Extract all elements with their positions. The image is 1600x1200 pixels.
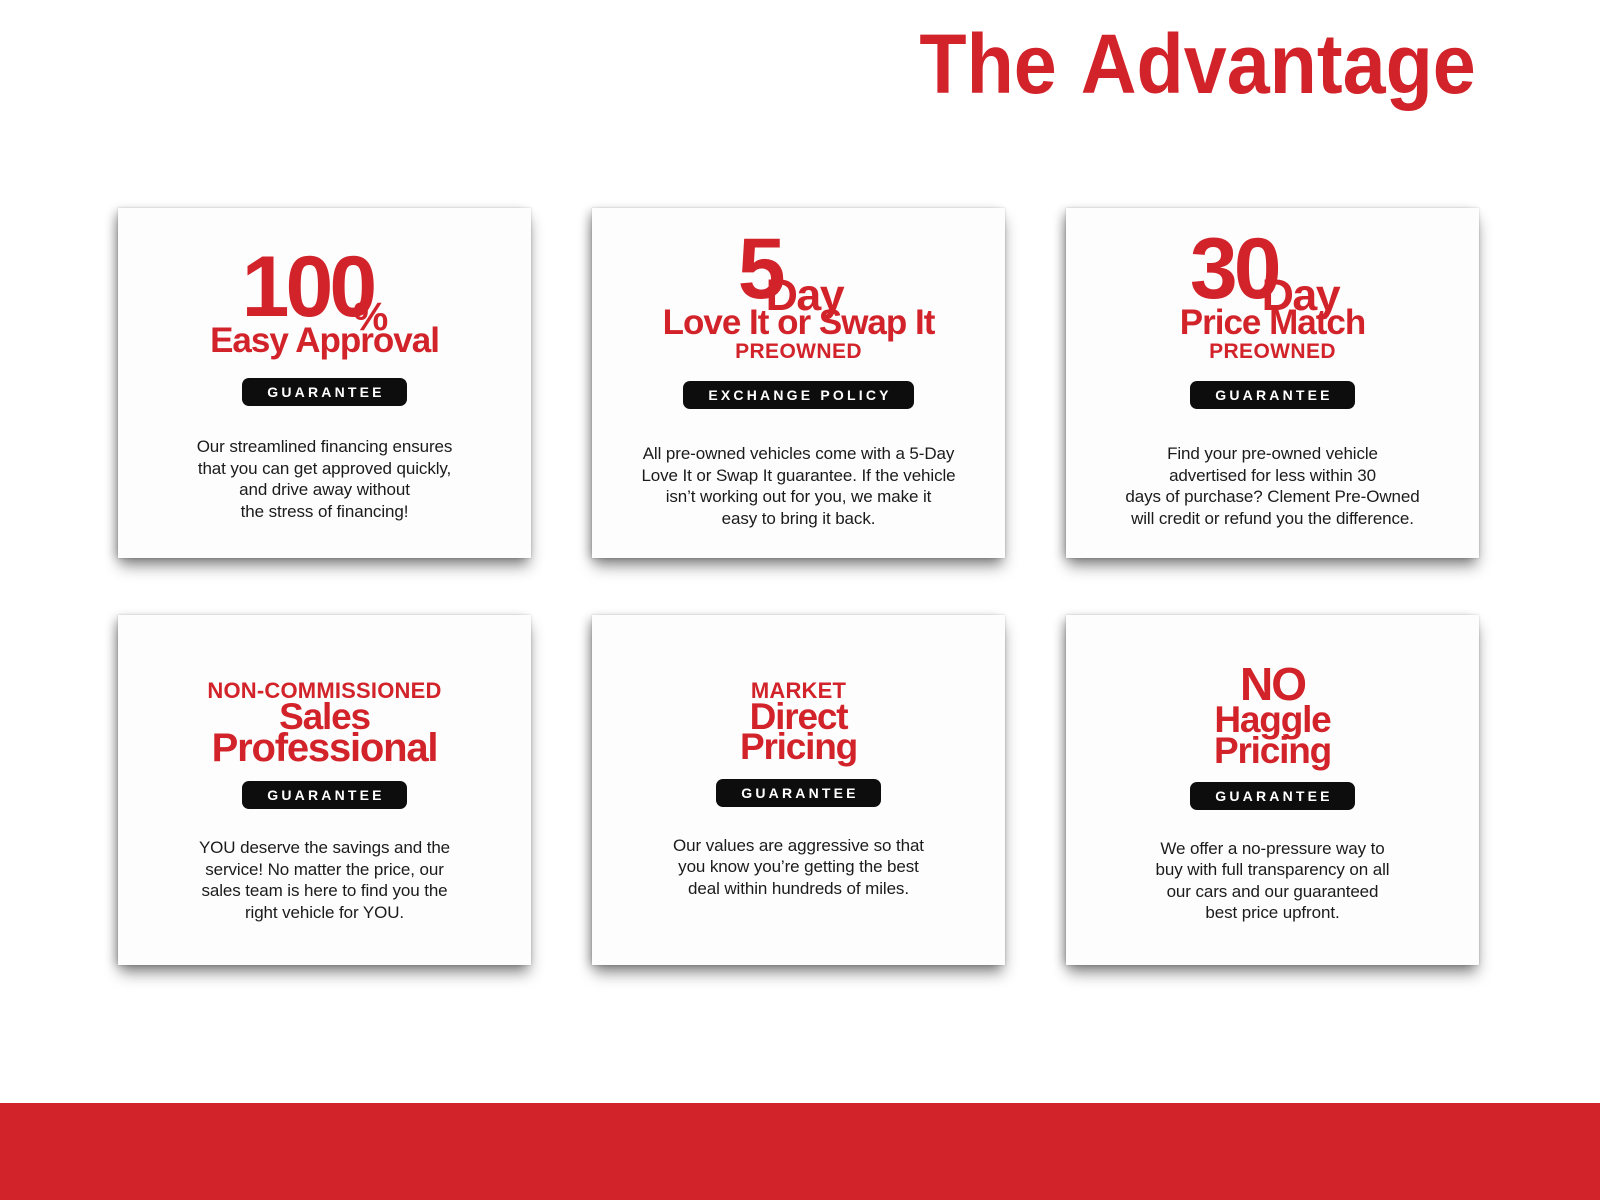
headline-sub: PREOWNED bbox=[735, 341, 862, 363]
card-headline: 100% Easy Approval bbox=[130, 208, 519, 358]
card-body-text: We offer a no-pressure way to buy with f… bbox=[1156, 838, 1390, 924]
advantage-card-grid: 100% Easy Approval GUARANTEE Our streaml… bbox=[118, 208, 1480, 965]
footer-accent-bar bbox=[0, 1103, 1600, 1200]
advantage-card-easy-approval: 100% Easy Approval GUARANTEE Our streaml… bbox=[118, 208, 531, 558]
headline-word-2: Professional bbox=[212, 732, 438, 765]
card-body-text: All pre-owned vehicles come with a 5-Day… bbox=[641, 443, 955, 529]
card-body-text: Find your pre-owned vehicle advertised f… bbox=[1125, 443, 1419, 529]
headline-word-2: Pricing bbox=[1214, 736, 1331, 766]
headline-huge-number: 5Day bbox=[738, 230, 859, 310]
guarantee-badge: GUARANTEE bbox=[1190, 782, 1354, 810]
page-title: TheAdvantage bbox=[920, 22, 1476, 106]
huge-number-suffix: % bbox=[353, 299, 387, 336]
exchange-policy-badge: EXCHANGE POLICY bbox=[683, 381, 913, 409]
card-body-text: Our streamlined financing ensures that y… bbox=[197, 436, 453, 522]
guarantee-badge: GUARANTEE bbox=[1190, 381, 1354, 409]
guarantee-badge: GUARANTEE bbox=[716, 779, 880, 807]
huge-number-suffix: Day bbox=[1262, 275, 1340, 317]
page-title-the: The bbox=[920, 17, 1057, 111]
guarantee-badge: GUARANTEE bbox=[242, 781, 406, 809]
card-body-text: YOU deserve the savings and the service!… bbox=[199, 837, 450, 923]
guarantee-badge: GUARANTEE bbox=[242, 378, 406, 406]
headline-sub: PREOWNED bbox=[1209, 341, 1336, 363]
huge-number-suffix: Day bbox=[766, 275, 844, 317]
advantage-card-love-it-or-swap-it: 5Day Love It or Swap It PREOWNED EXCHANG… bbox=[592, 208, 1005, 558]
page-title-advantage: Advantage bbox=[1081, 17, 1476, 111]
headline-word-2: Pricing bbox=[740, 732, 857, 762]
headline-huge-number: 100% bbox=[242, 248, 408, 328]
card-headline: 5Day Love It or Swap It PREOWNED bbox=[604, 208, 993, 363]
card-body-text: Our values are aggressive so that you kn… bbox=[673, 835, 924, 900]
advantage-card-market-direct-pricing: MARKET Direct Pricing GUARANTEE Our valu… bbox=[592, 615, 1005, 965]
headline-huge-number: 30Day bbox=[1190, 230, 1355, 310]
advantage-card-non-commissioned-sales: NON-COMMISSIONED Sales Professional GUAR… bbox=[118, 615, 531, 965]
card-headline: NON-COMMISSIONED Sales Professional bbox=[130, 615, 519, 765]
card-headline: 30Day Price Match PREOWNED bbox=[1078, 208, 1467, 363]
card-headline: MARKET Direct Pricing bbox=[604, 615, 993, 763]
advantage-card-price-match: 30Day Price Match PREOWNED GUARANTEE Fin… bbox=[1066, 208, 1479, 558]
card-headline: NO Haggle Pricing bbox=[1078, 615, 1467, 766]
advantage-card-no-haggle-pricing: NO Haggle Pricing GUARANTEE We offer a n… bbox=[1066, 615, 1479, 965]
